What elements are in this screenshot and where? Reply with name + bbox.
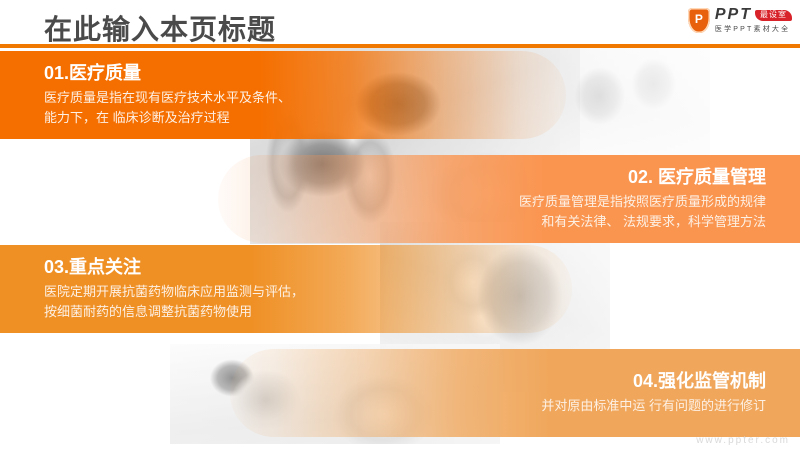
content-band-3[interactable]: 03.重点关注 医院定期开展抗菌药物临床应用监测与评估， 按细菌耐药的信息调整抗… [0, 245, 572, 333]
brand-logo: P PPT 最设室 医学PPT素材大全 [688, 6, 792, 34]
band-4-body: 并对原由标准中运 行有问题的进行修订 [541, 396, 766, 416]
logo-text-group: PPT 最设室 医学PPT素材大全 [715, 7, 792, 33]
logo-badge: 最设室 [755, 10, 792, 21]
page-title: 在此输入本页标题 [44, 8, 276, 48]
band-1-body: 医疗质量是指在现有医疗技术水平及条件、 能力下，在 临床诊断及治疗过程 [44, 88, 291, 128]
logo-wordmark: PPT [715, 7, 752, 23]
logo-subtitle: 医学PPT素材大全 [715, 26, 792, 33]
band-3-body: 医院定期开展抗菌药物临床应用监测与评估， 按细菌耐药的信息调整抗菌药物使用 [44, 282, 304, 322]
content-band-1[interactable]: 01.医疗质量 医疗质量是指在现有医疗技术水平及条件、 能力下，在 临床诊断及治… [0, 51, 566, 139]
header-divider [0, 44, 800, 48]
band-2-heading: 02. 医疗质量管理 [628, 166, 766, 189]
content-band-4[interactable]: 04.强化监管机制 并对原由标准中运 行有问题的进行修订 [230, 349, 800, 437]
band-4-heading: 04.强化监管机制 [633, 370, 766, 393]
logo-wordmark-row: PPT 最设室 [715, 7, 792, 23]
content-band-2[interactable]: 02. 医疗质量管理 医疗质量管理是指按照医疗质量形成的规律 和有关法律、 法规… [218, 155, 800, 243]
site-watermark: www.ppter.com [696, 435, 790, 446]
slide: 在此输入本页标题 P PPT 最设室 医学PPT素材大全 01.医疗质量 医疗质… [0, 0, 800, 450]
shield-icon: P [688, 8, 710, 33]
band-2-body: 医疗质量管理是指按照医疗质量形成的规律 和有关法律、 法规要求，科学管理方法 [519, 192, 766, 232]
shield-letter: P [695, 13, 703, 25]
band-1-heading: 01.医疗质量 [44, 62, 141, 85]
band-3-heading: 03.重点关注 [44, 256, 141, 279]
